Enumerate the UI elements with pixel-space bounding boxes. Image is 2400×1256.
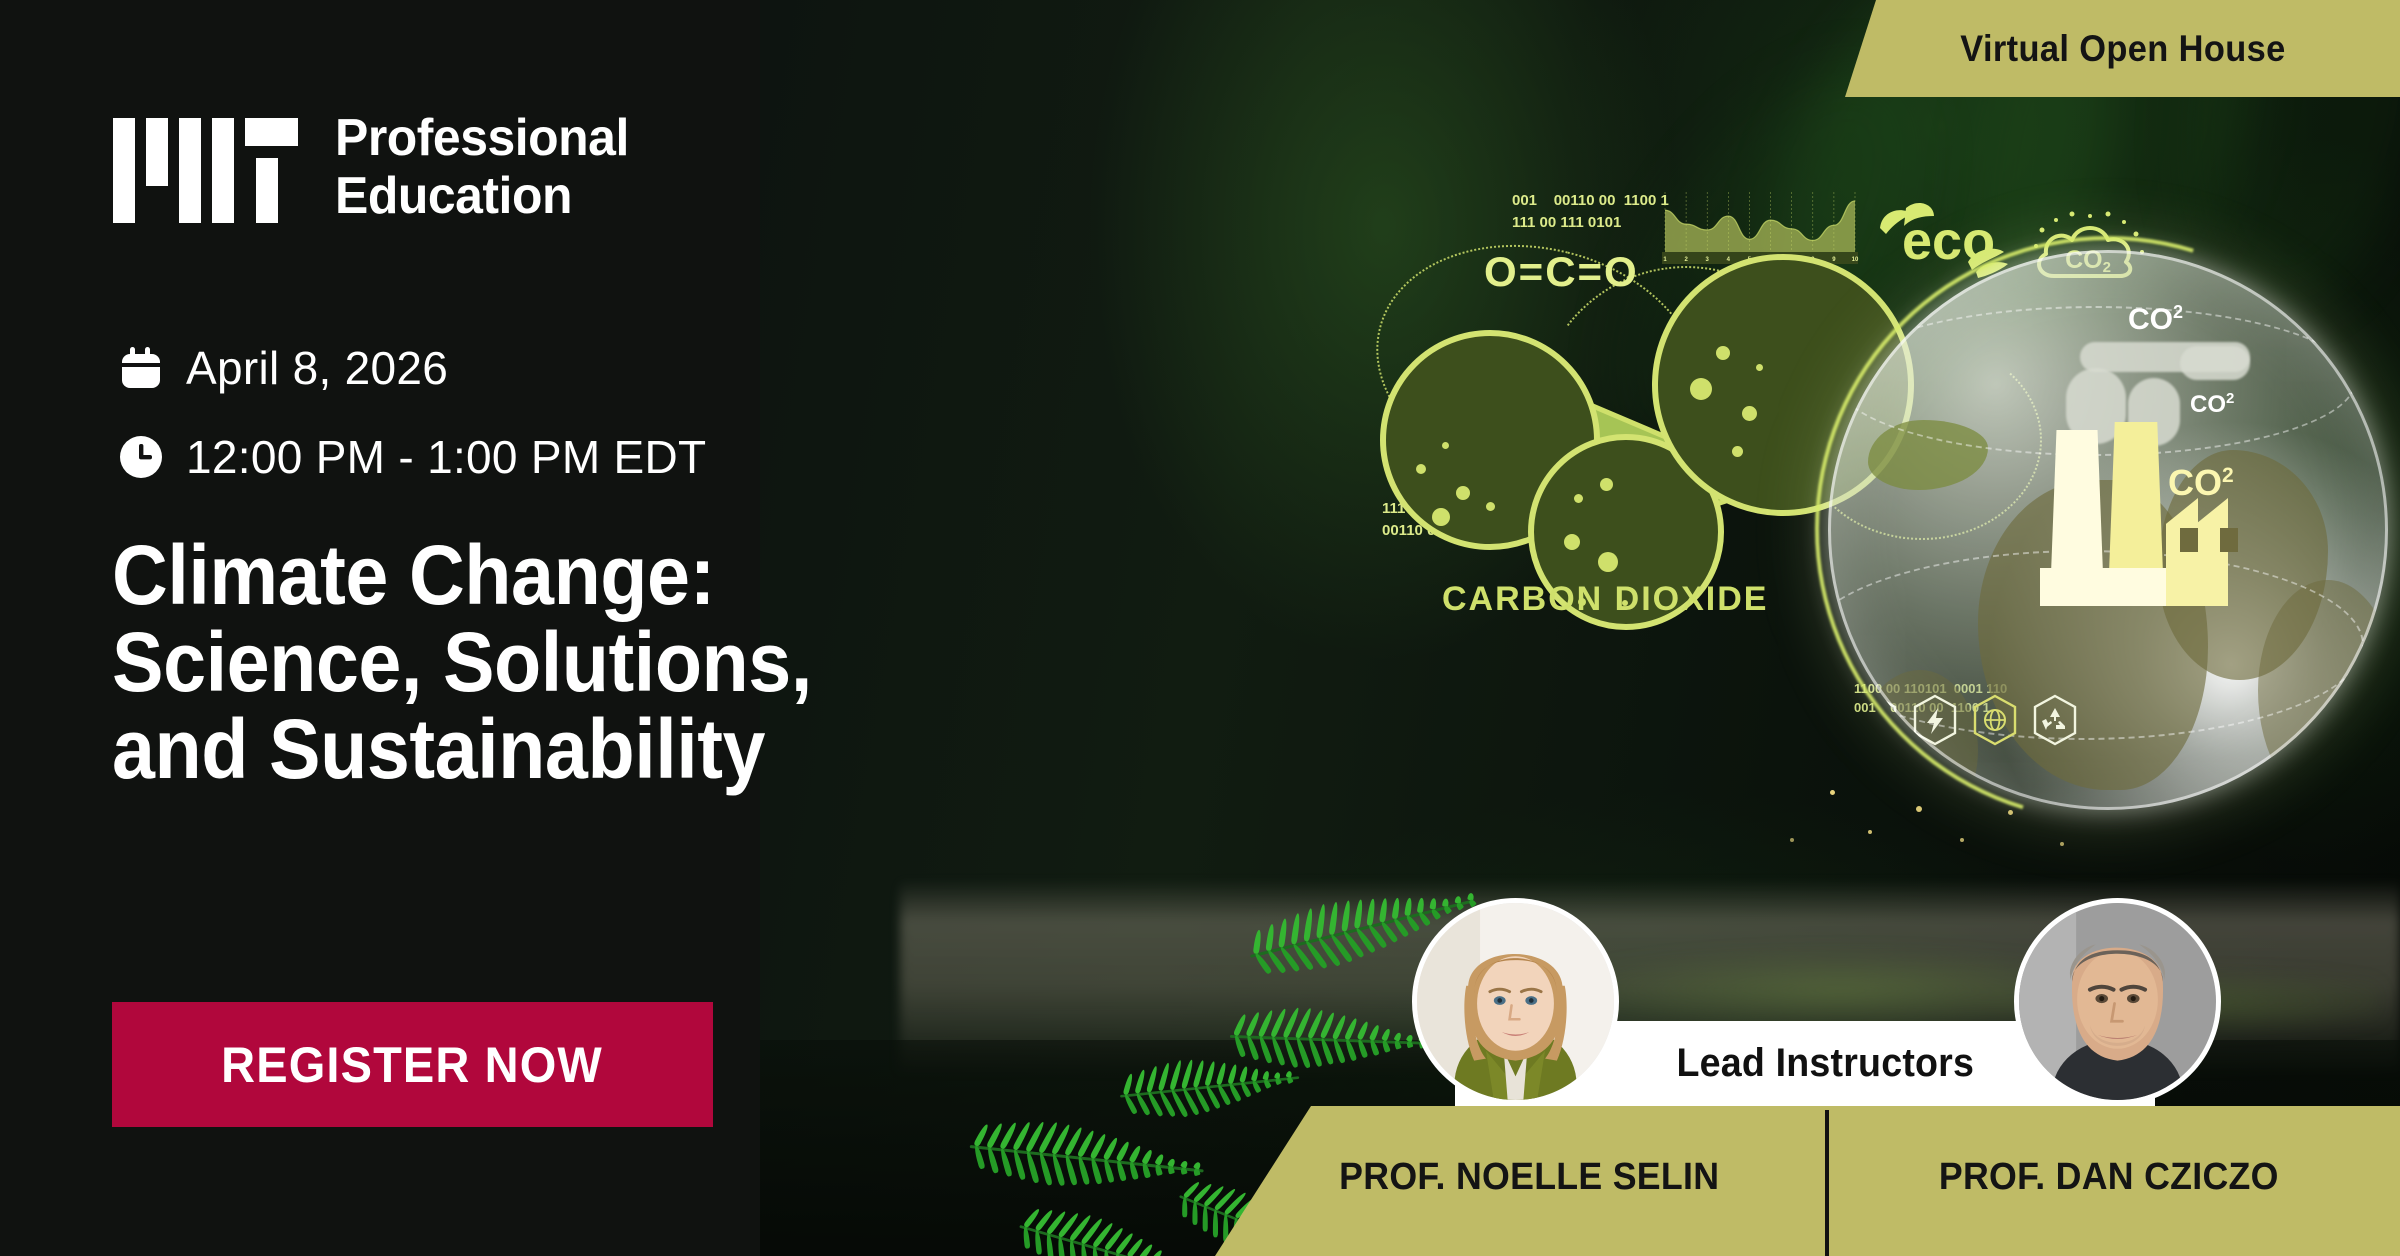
event-date-row: April 8, 2026 <box>118 337 706 399</box>
headline-line-3: and Sustainability <box>112 706 1106 793</box>
svg-text:10: 10 <box>1852 257 1859 263</box>
instructor-name-1: PROF. DAN CZICZO <box>1939 1156 2279 1199</box>
event-time: 12:00 PM - 1:00 PM EDT <box>186 430 706 484</box>
lead-instructors-heading: Lead Instructors <box>1676 1041 1974 1086</box>
promo-banner: 001 00110 00 1100 1 111 00 111 0101 111 … <box>0 0 2400 1256</box>
event-time-row: 12:00 PM - 1:00 PM EDT <box>118 426 706 488</box>
calendar-icon <box>118 345 164 391</box>
headline-line-2: Science, Solutions, <box>112 619 1106 706</box>
mit-logo-icon <box>113 118 298 223</box>
molecule-label: CARBON DIOXIDE <box>1442 580 1768 619</box>
register-now-button[interactable]: REGISTER NOW <box>112 1002 713 1127</box>
logo-line-1: Professional <box>335 109 629 167</box>
molecule-formula: O=C=O <box>1484 248 1639 296</box>
page-title: Climate Change: Science, Solutions, and … <box>112 532 1106 793</box>
binary-text-top: 001 00110 00 1100 1 111 00 111 0101 <box>1512 190 1669 234</box>
instructor-divider <box>1825 1110 1829 1256</box>
instructor-name-0: PROF. NOELLE SELIN <box>1339 1156 1719 1199</box>
register-now-label: REGISTER NOW <box>222 1036 604 1094</box>
mit-logo-wordmark: Professional Education <box>335 109 629 225</box>
eco-word: eco <box>1902 214 1995 268</box>
clock-icon <box>118 434 164 480</box>
headline-line-1: Climate Change: <box>112 532 1106 619</box>
logo-line-2: Education <box>335 167 629 225</box>
mit-professional-education-logo: Professional Education <box>113 118 673 223</box>
event-date: April 8, 2026 <box>186 341 448 395</box>
avatar-dan-cziczo <box>2014 898 2221 1105</box>
avatar-noelle-selin <box>1412 898 1619 1105</box>
event-meta: April 8, 2026 12:00 PM - 1:00 PM EDT <box>118 337 706 488</box>
virtual-open-house-ribbon: Virtual Open House <box>1845 0 2400 97</box>
ribbon-label: Virtual Open House <box>1960 28 2285 70</box>
climate-artwork: 001 00110 00 1100 1 111 00 111 0101 111 … <box>1360 170 2260 930</box>
